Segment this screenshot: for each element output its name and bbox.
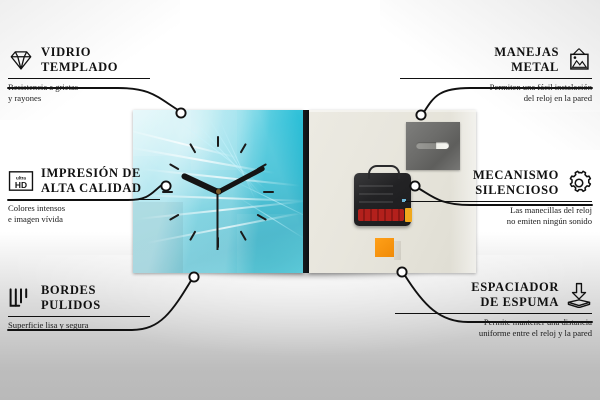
diamond-icon: [8, 47, 34, 73]
callout-title-line1: IMPRESIÓN DE: [41, 166, 142, 181]
callout-subtitle-line2: e imagen vívida: [8, 214, 168, 225]
clock-marker: [218, 191, 274, 193]
callout-impresion-alta-calidad: ultra HD IMPRESIÓN DE ALTA CALIDAD Color…: [8, 166, 168, 225]
callout-subtitle-line1: Superficie lisa y segura: [8, 320, 158, 331]
callout-title-line2: SILENCIOSO: [473, 183, 559, 198]
callout-bordes-pulidos: BORDES PULIDOS Superficie lisa y segura: [8, 283, 158, 331]
callout-header: VIDRIO TEMPLADO: [8, 45, 158, 75]
callout-title-line2: ALTA CALIDAD: [41, 181, 142, 196]
gear-icon: [566, 170, 592, 196]
callout-subtitle-line1: Permite mantener una distancia: [387, 317, 592, 328]
callout-subtitle-line1: Permiten una fácil instalación: [392, 82, 592, 93]
foam-spacer-shadow: [394, 241, 401, 260]
callout-title-line2: METAL: [494, 60, 559, 75]
callout-rule: [8, 199, 160, 201]
callout-mecanismo-silencioso: MECANISMO SILENCIOSO Las manecillas del …: [397, 168, 592, 227]
callout-header: MECANISMO SILENCIOSO: [397, 168, 592, 198]
clock-marker: [217, 136, 219, 192]
callout-manejas-metal: MANEJAS METAL Permiten una fácil instala…: [392, 45, 592, 104]
foam-spacer-icon: [566, 282, 592, 308]
callout-title-line2: DE ESPUMA: [471, 295, 559, 310]
ultra-hd-icon: ultra HD: [8, 168, 34, 194]
callout-subtitle-line2: y rayones: [8, 93, 158, 104]
callout-title-line1: ESPACIADOR: [471, 280, 559, 295]
back-panel-top-highlight: [309, 110, 600, 112]
callout-title-line1: MANEJAS: [494, 45, 559, 60]
callout-subtitle-line2: del reloj en la pared: [392, 93, 592, 104]
foam-spacer: [375, 238, 394, 257]
picture-frame-icon: [566, 47, 592, 73]
callout-title-line1: BORDES: [41, 283, 101, 298]
clock-center-hub: [216, 189, 221, 194]
callout-rule: [400, 78, 592, 80]
callout-subtitle-line2: uniforme entre el reloj y la pared: [387, 328, 592, 339]
callout-rule: [405, 201, 592, 203]
callout-title-line2: TEMPLADO: [41, 60, 118, 75]
callout-vidrio-templado: VIDRIO TEMPLADO Resistencia a grietas y …: [8, 45, 158, 104]
callout-title-line2: PULIDOS: [41, 298, 101, 313]
callout-espaciador-espuma: ESPACIADOR DE ESPUMA Permite mantener un…: [387, 280, 592, 339]
hanger-keyhole-slot: [416, 142, 449, 149]
infographic-canvas: VIDRIO TEMPLADO Resistencia a grietas y …: [0, 0, 600, 400]
metal-hanger-plate: [406, 122, 460, 170]
callout-subtitle-line1: Resistencia a grietas: [8, 82, 158, 93]
callout-subtitle-line2: no emiten ningún sonido: [397, 216, 592, 227]
callout-header: MANEJAS METAL: [392, 45, 592, 75]
callout-rule: [8, 78, 150, 80]
polished-edges-icon: [8, 285, 34, 311]
callout-title-line1: MECANISMO: [473, 168, 559, 183]
callout-subtitle-line1: Las manecillas del reloj: [397, 205, 592, 216]
callout-rule: [395, 313, 592, 315]
ultra-hd-large-text: HD: [15, 180, 27, 190]
mechanism-hanging-loop: [368, 165, 400, 179]
callout-subtitle-line1: Colores intensos: [8, 203, 168, 214]
callout-header: BORDES PULIDOS: [8, 283, 158, 313]
callout-header: ESPACIADOR DE ESPUMA: [387, 280, 592, 310]
callout-title-line1: VIDRIO: [41, 45, 118, 60]
callout-rule: [8, 316, 150, 318]
callout-header: ultra HD IMPRESIÓN DE ALTA CALIDAD: [8, 166, 168, 196]
